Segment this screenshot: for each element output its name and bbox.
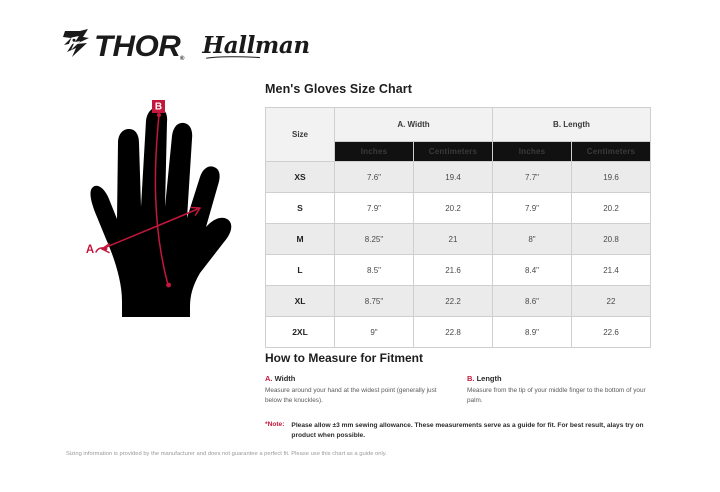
hallman-wordmark: Hallman <box>202 32 309 59</box>
table-row: L 8.5" 21.6 8.4" 21.4 <box>266 255 651 286</box>
thor-wordmark: THOR <box>94 32 180 62</box>
cell-length-inches: 8" <box>493 224 572 255</box>
table-row: XS 7.6" 19.4 7.7" 19.6 <box>266 162 651 193</box>
cell-width-centimeters: 19.4 <box>414 162 493 193</box>
cell-length-inches: 8.9" <box>493 317 572 348</box>
table-row: S 7.9" 20.2 7.9" 20.2 <box>266 193 651 224</box>
length-measure-bottom-endpoint <box>166 283 171 288</box>
measure-item-width: A. Width Measure around your hand at the… <box>265 374 453 407</box>
column-header-size: Size <box>266 108 335 162</box>
thor-logo: THOR ® <box>62 28 184 65</box>
length-label: B <box>155 102 162 113</box>
measure-item-heading: B. Length <box>467 374 655 383</box>
cell-length-centimeters: 20.2 <box>572 193 651 224</box>
cell-width-centimeters: 22.2 <box>414 286 493 317</box>
cell-length-inches: 7.7" <box>493 162 572 193</box>
width-measure-endpoint <box>104 247 108 251</box>
cell-width-inches: 7.9" <box>335 193 414 224</box>
cell-width-centimeters: 20.2 <box>414 193 493 224</box>
thor-registered-mark: ® <box>180 56 184 65</box>
hallman-logo: Hallman <box>202 34 309 59</box>
cell-width-inches: 8.25" <box>335 224 414 255</box>
note-row: *Note: Please allow ±3 mm sewing allowan… <box>265 421 655 442</box>
column-header-length-inches: Inches <box>493 141 572 161</box>
cell-length-inches: 7.9" <box>493 193 572 224</box>
cell-size: 2XL <box>266 317 335 348</box>
column-group-header-width: A. Width <box>335 108 493 142</box>
column-group-header-length: B. Length <box>493 108 651 142</box>
cell-size: M <box>266 224 335 255</box>
cell-width-centimeters: 21 <box>414 224 493 255</box>
length-measure-top-endpoint <box>157 113 161 117</box>
cell-width-inches: 9" <box>335 317 414 348</box>
cell-length-centimeters: 22 <box>572 286 651 317</box>
cell-length-inches: 8.6" <box>493 286 572 317</box>
cell-size: S <box>266 193 335 224</box>
hand-silhouette-icon <box>90 107 231 317</box>
measure-item-description: Measure around your hand at the widest p… <box>265 386 453 407</box>
page-title: Men's Gloves Size Chart <box>265 82 651 96</box>
cell-size: XL <box>266 286 335 317</box>
measure-item-letter: B. <box>467 374 475 383</box>
cell-size: XS <box>266 162 335 193</box>
cell-length-inches: 8.4" <box>493 255 572 286</box>
note-label: *Note: <box>265 421 284 442</box>
table-body: XS 7.6" 19.4 7.7" 19.6 S 7.9" 20.2 7.9" … <box>266 162 651 348</box>
size-chart-table: Size A. Width B. Length Inches Centimete… <box>265 107 651 348</box>
measure-item-description: Measure from the tip of your middle fing… <box>467 386 655 407</box>
cell-size: L <box>266 255 335 286</box>
cell-width-inches: 8.75" <box>335 286 414 317</box>
measure-item-name: Width <box>275 374 296 383</box>
table-header: Size A. Width B. Length Inches Centimete… <box>266 108 651 162</box>
column-header-width-centimeters: Centimeters <box>414 141 493 161</box>
thor-arrow-icon <box>62 28 92 65</box>
size-chart-page: THOR ® Hallman A <box>0 0 720 492</box>
width-label: A <box>86 244 94 256</box>
footer-disclaimer: Sizing information is provided by the ma… <box>66 449 396 459</box>
how-to-measure-section: How to Measure for Fitment A. Width Meas… <box>265 351 655 442</box>
cell-length-centimeters: 20.8 <box>572 224 651 255</box>
brand-header: THOR ® Hallman <box>62 28 310 65</box>
note-text: Please allow ±3 mm sewing allowance. The… <box>291 421 655 442</box>
measure-item-name: Length <box>477 374 502 383</box>
column-header-length-centimeters: Centimeters <box>572 141 651 161</box>
how-to-measure-title: How to Measure for Fitment <box>265 351 655 365</box>
measure-item-length: B. Length Measure from the tip of your m… <box>467 374 655 407</box>
cell-width-inches: 7.6" <box>335 162 414 193</box>
measure-item-letter: A. <box>265 374 273 383</box>
table-header-row-groups: Size A. Width B. Length <box>266 108 651 142</box>
cell-width-centimeters: 22.8 <box>414 317 493 348</box>
how-to-measure-columns: A. Width Measure around your hand at the… <box>265 374 655 407</box>
table-row: XL 8.75" 22.2 8.6" 22 <box>266 286 651 317</box>
cell-length-centimeters: 19.6 <box>572 162 651 193</box>
cell-width-inches: 8.5" <box>335 255 414 286</box>
cell-width-centimeters: 21.6 <box>414 255 493 286</box>
hallman-underline-swash <box>206 56 260 59</box>
cell-length-centimeters: 21.4 <box>572 255 651 286</box>
size-chart-panel: Men's Gloves Size Chart Size A. Width B.… <box>265 82 651 348</box>
measure-item-heading: A. Width <box>265 374 453 383</box>
hand-measurement-diagram: A B <box>60 95 260 320</box>
table-row: M 8.25" 21 8" 20.8 <box>266 224 651 255</box>
table-row: 2XL 9" 22.8 8.9" 22.6 <box>266 317 651 348</box>
cell-length-centimeters: 22.6 <box>572 317 651 348</box>
column-header-width-inches: Inches <box>335 141 414 161</box>
